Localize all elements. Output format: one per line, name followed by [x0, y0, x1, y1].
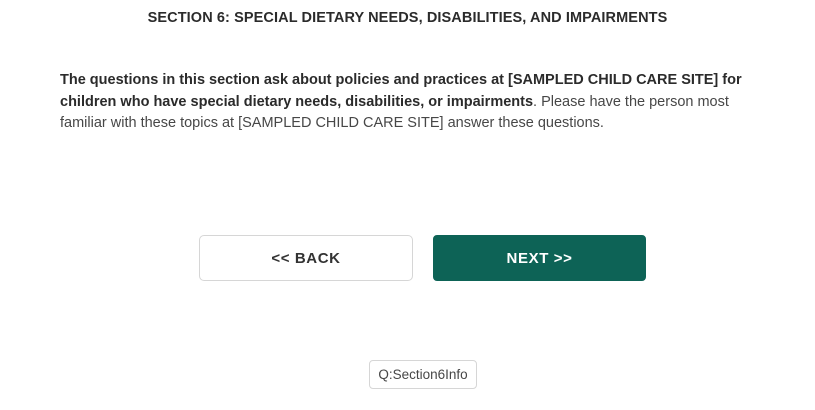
survey-page: SECTION 6: SPECIAL DIETARY NEEDS, DISABI… — [0, 0, 815, 410]
question-id-tag: Q:Section6Info — [369, 360, 477, 389]
back-button[interactable]: << BACK — [199, 235, 413, 281]
navigation-buttons: << BACK NEXT >> — [199, 235, 646, 281]
intro-block: The questions in this section ask about … — [60, 70, 775, 135]
next-button[interactable]: NEXT >> — [433, 235, 646, 281]
intro-paragraph: The questions in this section ask about … — [60, 70, 775, 135]
page-title: SECTION 6: SPECIAL DIETARY NEEDS, DISABI… — [0, 9, 815, 27]
